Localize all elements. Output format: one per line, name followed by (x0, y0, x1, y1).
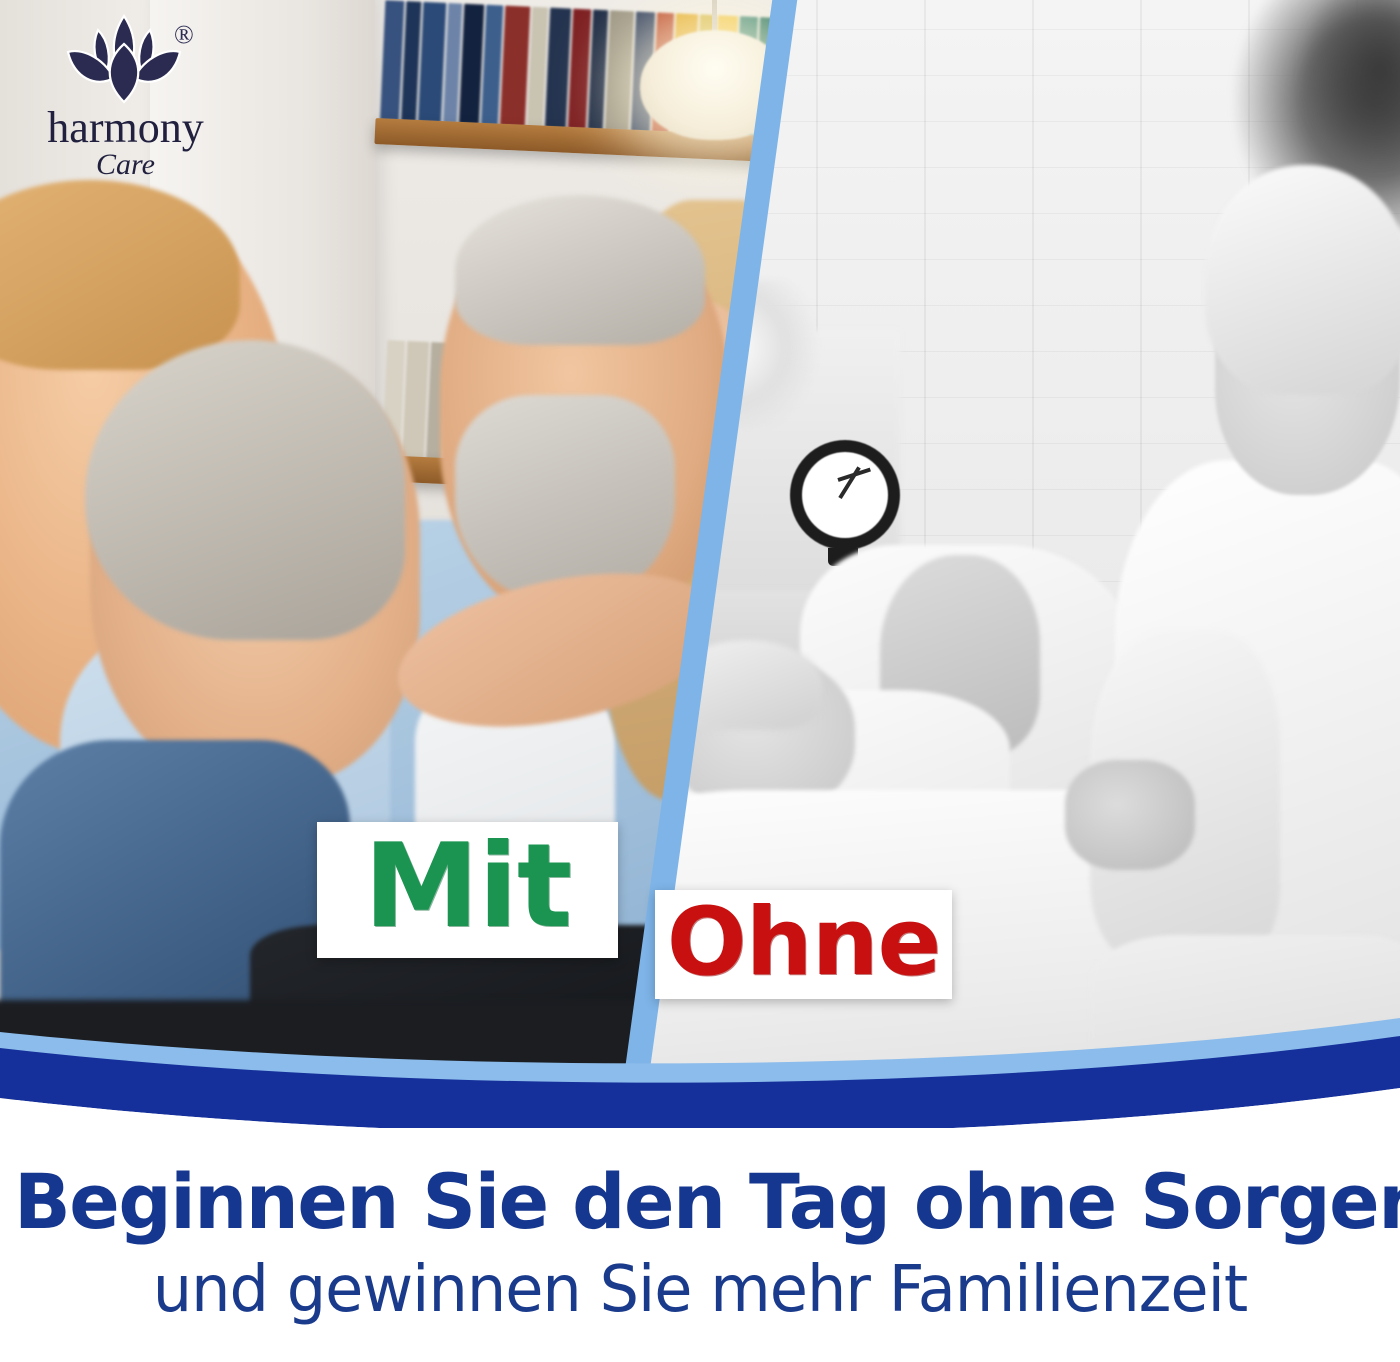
registered-trademark-symbol: ® (174, 20, 194, 50)
grandmother-hair (85, 340, 405, 640)
footer-text-block: Beginnen Sie den Tag ohne Sorgen und gew… (0, 1128, 1400, 1362)
sleeping-man-hair (672, 640, 822, 730)
label-badge-mit: Mit (317, 822, 618, 958)
comparison-photo-area: Mit Ohne ® harmony Care (0, 0, 1400, 1100)
label-mit-text: Mit (364, 829, 572, 945)
brand-tagline: Care (18, 150, 233, 180)
seated-woman-hair (1205, 165, 1400, 395)
grandfather-hair (455, 195, 705, 345)
ceiling-lamp-icon (640, 30, 790, 140)
brand-name: harmony (18, 106, 233, 150)
houseplant-leaves (1300, 0, 1400, 170)
label-ohne-text: Ohne (667, 896, 941, 990)
footer-subheadline: und gewinnen Sie mehr Familienzeit (21, 1258, 1379, 1322)
lotus-flower-icon (54, 14, 194, 110)
promo-banner: Mit Ohne ® harmony Care (0, 0, 1400, 1362)
alarm-clock-icon (790, 440, 900, 550)
label-badge-ohne: Ohne (655, 890, 952, 999)
seated-woman-hand (1065, 760, 1195, 870)
brand-logo: ® harmony Care (18, 14, 233, 194)
footer-headline: Beginnen Sie den Tag ohne Sorgen (14, 1164, 1386, 1240)
